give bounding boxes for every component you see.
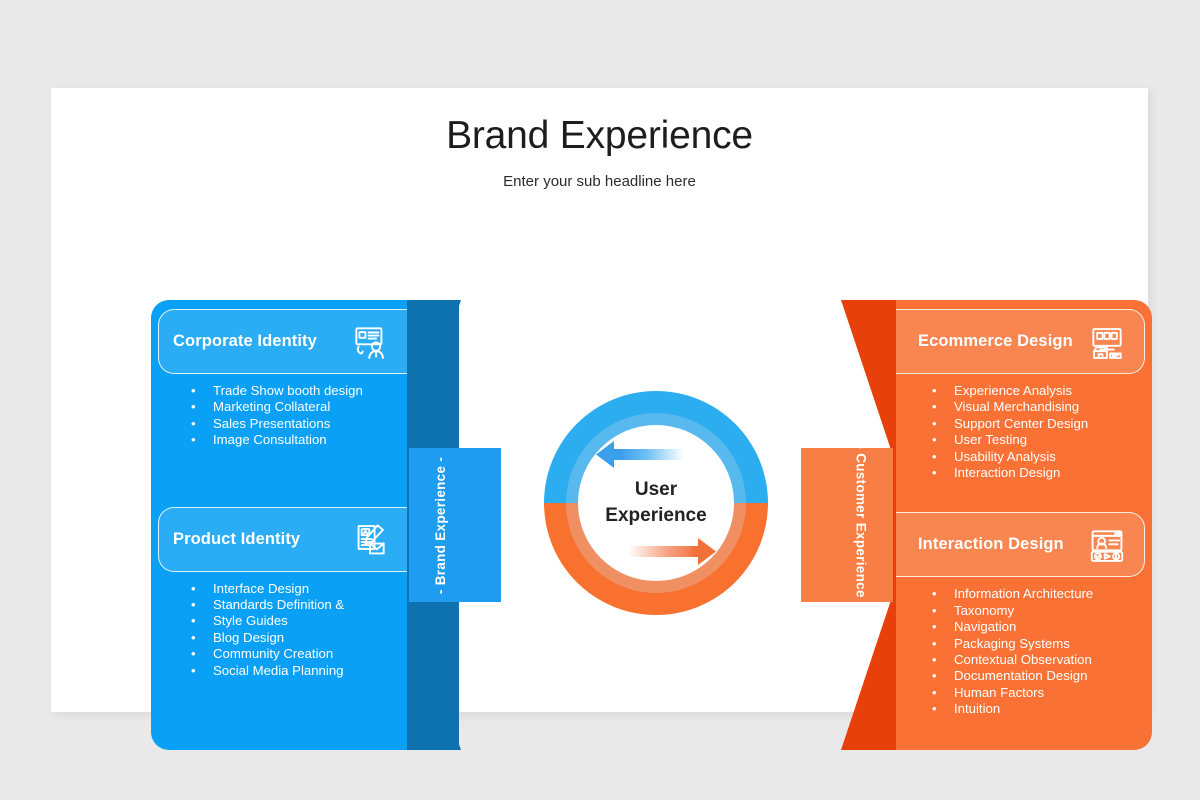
list-item: Image Consultation (191, 432, 397, 448)
page-subtitle: Enter your sub headline here (51, 173, 1148, 190)
card-interaction-design-title: Interaction Design (896, 535, 1084, 554)
slide: Brand Experience Enter your sub headline… (51, 88, 1148, 712)
card-product-identity-title: Product Identity (159, 530, 347, 549)
card-interaction-design-header[interactable]: Interaction Design (896, 512, 1145, 577)
screenshot-canvas: Brand Experience Enter your sub headline… (0, 0, 1200, 800)
list-item: Support Center Design (932, 416, 1142, 432)
card-ecommerce-design-title: Ecommerce Design (896, 332, 1084, 351)
list-item: Packaging Systems (932, 636, 1142, 652)
list-item: Visual Merchandising (932, 399, 1142, 415)
storefront-icon (1084, 320, 1130, 364)
list-item: Contextual Observation (932, 652, 1142, 668)
card-corporate-identity-bullets: Trade Show booth design Marketing Collat… (151, 374, 407, 449)
card-ecommerce-design-bullets: Experience Analysis Visual Merchandising… (896, 374, 1152, 481)
list-item: Usability Analysis (932, 449, 1142, 465)
list-item: Interface Design (191, 581, 397, 597)
card-interaction-design-bullets: Information Architecture Taxonomy Naviga… (896, 577, 1152, 717)
list-item: Interaction Design (932, 465, 1142, 481)
id-card-person-icon (347, 320, 393, 364)
list-item: Standards Definition & (191, 597, 397, 613)
card-ecommerce-design-header[interactable]: Ecommerce Design (896, 309, 1145, 374)
user-experience-line-2: Experience (605, 503, 706, 529)
list-item: Human Factors (932, 685, 1142, 701)
list-item: Intuition (932, 701, 1142, 717)
list-item: Trade Show booth design (191, 383, 397, 399)
list-item: Style Guides (191, 613, 397, 629)
card-corporate-identity-title: Corporate Identity (159, 332, 347, 351)
list-item: Marketing Collateral (191, 399, 397, 415)
list-item: Information Architecture (932, 586, 1142, 602)
brand-experience-label-text: - Brand Experience - (434, 456, 449, 593)
document-envelope-icon (347, 517, 393, 561)
user-experience-line-1: User (635, 477, 677, 503)
browser-window-user-icon (1084, 523, 1130, 567)
list-item: Sales Presentations (191, 416, 397, 432)
list-item: Community Creation (191, 646, 397, 662)
card-corporate-identity-header[interactable]: Corporate Identity (158, 309, 407, 374)
list-item: User Testing (932, 432, 1142, 448)
customer-experience-panel: Ecommerce Design (896, 300, 1152, 750)
list-item: Taxonomy (932, 603, 1142, 619)
card-product-identity-header[interactable]: Product Identity (158, 507, 407, 572)
customer-experience-label-text: - Customer Experience - (854, 444, 869, 606)
list-item: Experience Analysis (932, 383, 1142, 399)
list-item: Blog Design (191, 630, 397, 646)
page-title: Brand Experience (51, 114, 1148, 158)
card-product-identity-bullets: Interface Design Standards Definition & … (151, 572, 407, 679)
list-item: Documentation Design (932, 668, 1142, 684)
list-item: Navigation (932, 619, 1142, 635)
brand-experience-panel: Corporate Identity (151, 300, 407, 750)
list-item: Social Media Planning (191, 663, 397, 679)
user-experience-label: User Experience (536, 383, 776, 623)
